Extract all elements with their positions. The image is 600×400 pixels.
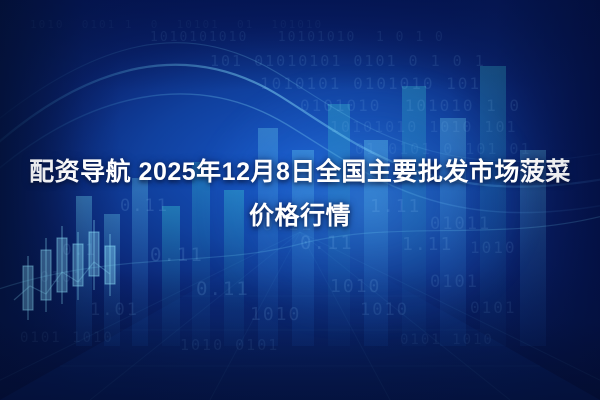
digit-row: 1010 0101 — [180, 336, 279, 354]
digit-row: 1.01 — [90, 300, 139, 320]
digit-row: 0101010 101010 1 0 — [300, 96, 521, 115]
digit-row: 1010101 0101010 101 — [260, 74, 481, 93]
digit-row: 1010 — [360, 300, 409, 320]
digit-row: 1010 — [330, 276, 381, 297]
digit-row: 10101010 1010 101 — [330, 118, 518, 136]
digit-row: 0.1 — [62, 240, 97, 259]
digit-row: 0.11 — [196, 278, 250, 300]
digit-row: 0101 — [470, 298, 517, 317]
digit-row: 0101 — [40, 268, 84, 286]
digit-row: 1010101010 10101010 1 0 1 0 — [150, 30, 445, 45]
digit-row: 0.11 — [150, 244, 204, 266]
digit-row: 1010 — [470, 238, 517, 257]
page-title: 配资导航 2025年12月8日全国主要批发市场菠菜价格行情 — [0, 150, 600, 238]
digit-row: 101 01010101 0101 0 1 0 1 — [210, 52, 486, 70]
digit-row: 1010 — [250, 304, 301, 325]
digit-row: 0101 — [430, 272, 479, 292]
digit-row: 0101 1010 — [20, 330, 114, 346]
banner-image: 1010 0101 1 0 10101 01 1010101010101010 … — [0, 0, 600, 400]
digit-row: 0101 1010 — [400, 332, 494, 348]
